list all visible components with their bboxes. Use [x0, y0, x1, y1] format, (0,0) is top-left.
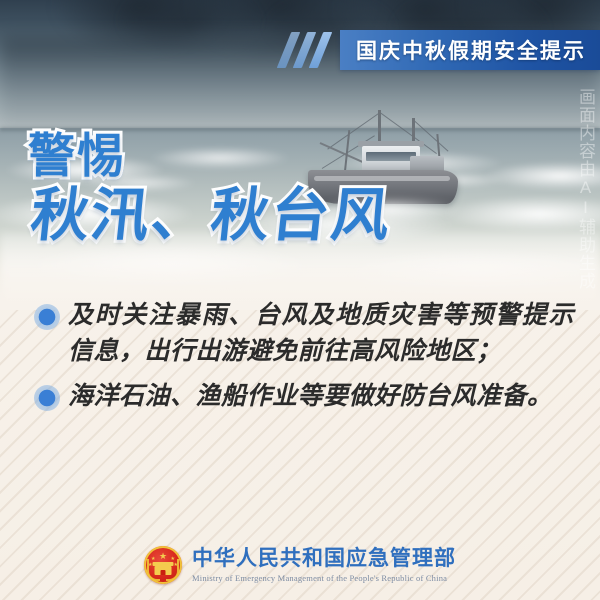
header-banner: 国庆中秋假期安全提示: [280, 30, 600, 70]
small-star-icon: ★: [174, 563, 178, 568]
bullet-list: 及时关注暴雨、台风及地质灾害等预警提示信息，出行出游避免前往高风险地区； 海洋石…: [34, 298, 574, 425]
bullet-dot-icon: [34, 385, 60, 411]
big-star-icon: ★: [159, 552, 167, 561]
diagonal-stripes-icon: [280, 30, 338, 70]
ai-watermark: 画面内容由AI辅助生成: [572, 88, 596, 290]
headline-line-2: 秋汛、秋台风: [28, 186, 394, 245]
safety-poster: 画面内容由AI辅助生成 国庆中秋假期安全提示 警惕 秋汛、秋台风 及时关注暴雨、…: [0, 0, 600, 600]
headline-block: 警惕 秋汛、秋台风: [28, 132, 388, 245]
banner-bar: 国庆中秋假期安全提示: [340, 30, 600, 70]
list-item: 海洋石油、渔船作业等要做好防台风准备。: [34, 379, 574, 415]
ministry-name-cn: 中华人民共和国应急管理部: [192, 548, 456, 569]
bullet-text: 及时关注暴雨、台风及地质灾害等预警提示信息，出行出游避免前往高风险地区；: [68, 298, 574, 369]
bullet-text: 海洋石油、渔船作业等要做好防台风准备。: [68, 379, 553, 415]
ministry-name-en: Ministry of Emergency Management of the …: [192, 574, 456, 583]
bullet-dot-icon: [34, 304, 60, 330]
banner-title: 国庆中秋假期安全提示: [356, 35, 586, 65]
national-emblem-icon: ★ ★ ★ ★ ★: [144, 546, 182, 584]
list-item: 及时关注暴雨、台风及地质灾害等预警提示信息，出行出游避免前往高风险地区；: [34, 298, 574, 369]
footer: ★ ★ ★ ★ ★ 中华人民共和国应急管理部 Ministry of Emerg…: [0, 546, 600, 584]
footer-text-block: 中华人民共和国应急管理部 Ministry of Emergency Manag…: [192, 548, 456, 583]
tiananmen-gate-shape: [155, 566, 172, 575]
headline-line-1: 警惕: [28, 132, 388, 180]
